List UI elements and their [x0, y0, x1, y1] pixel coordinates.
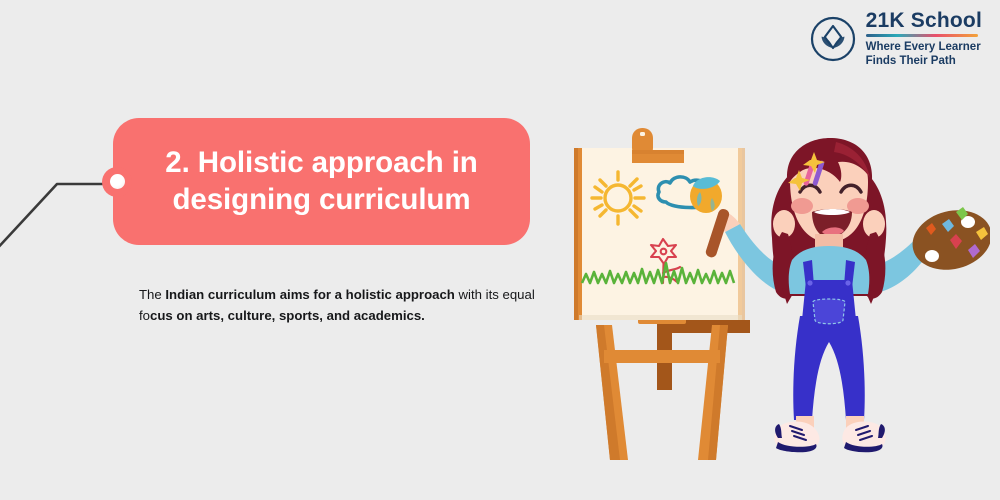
body-paragraph: The Indian curriculum aims for a holisti… — [139, 285, 539, 327]
body-lead: The — [139, 287, 165, 302]
page-title: 2. Holistic approach in designing curric… — [143, 145, 499, 218]
brand-name: 21K School — [866, 10, 982, 31]
girl-painting-at-easel-illustration — [560, 120, 990, 480]
body-bold-1: Indian curriculum aims for a holistic ap… — [165, 287, 454, 302]
card-notch-dot — [102, 167, 132, 197]
brand-logo: 21K School Where Every Learner Finds The… — [810, 10, 982, 69]
body-bold-2: cus on arts, culture, sports, and academ… — [150, 308, 425, 323]
lotus-in-circle-icon — [810, 16, 856, 62]
brand-tagline: Where Every Learner Finds Their Path — [866, 40, 982, 69]
paint-palette-icon — [906, 202, 990, 278]
brand-text-block: 21K School Where Every Learner Finds The… — [866, 10, 982, 69]
brand-tagline-line-2: Finds Their Path — [866, 54, 982, 68]
brand-gradient-rule — [866, 34, 978, 37]
easel-clip-icon — [632, 128, 684, 163]
slide-canvas: 21K School Where Every Learner Finds The… — [0, 0, 1000, 500]
heading-card: 2. Holistic approach in designing curric… — [113, 118, 530, 245]
brand-tagline-line-1: Where Every Learner — [866, 40, 982, 54]
girl-cheek-left — [791, 198, 813, 214]
girl-shoe-right — [842, 422, 885, 453]
